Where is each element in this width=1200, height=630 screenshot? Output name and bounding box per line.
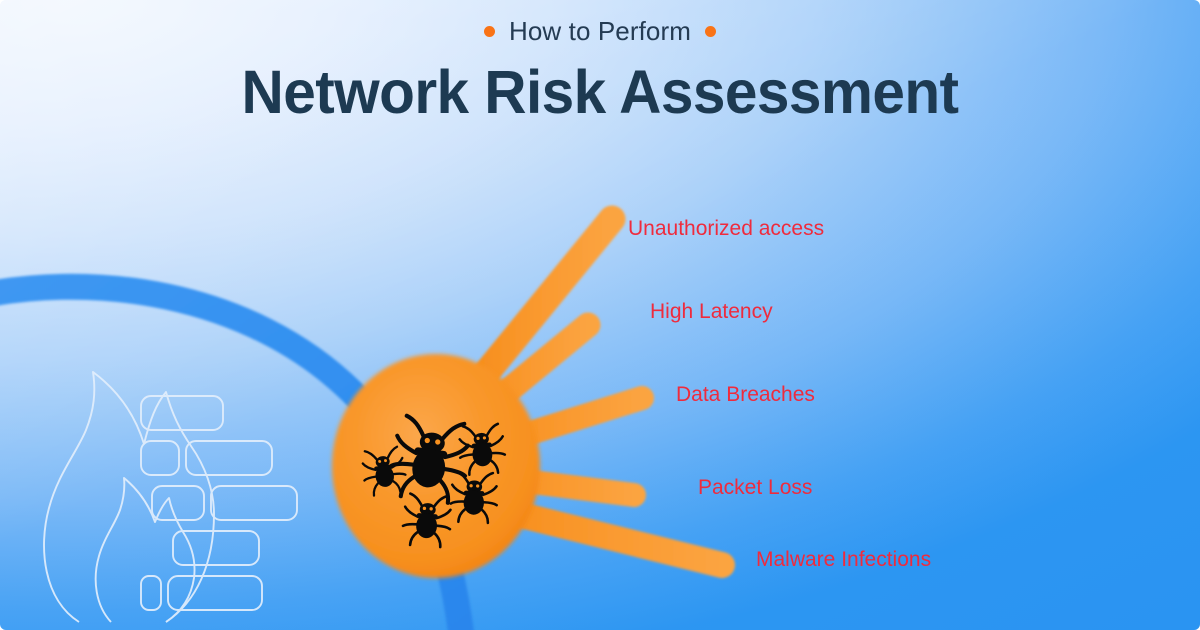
risk-label: Unauthorized access xyxy=(628,218,824,239)
page-title: Network Risk Assessment xyxy=(24,60,1176,124)
bullet-dot-icon xyxy=(705,26,716,37)
kicker-text: How to Perform xyxy=(509,18,691,44)
bullet-dot-icon xyxy=(484,26,495,37)
flame-outline-icon xyxy=(44,372,214,622)
firewall-illustration xyxy=(44,372,297,622)
risk-label: High Latency xyxy=(650,301,773,322)
header-block: How to Perform Network Risk Assessment xyxy=(0,18,1200,124)
risk-label: Data Breaches xyxy=(676,384,815,405)
kicker-row: How to Perform xyxy=(484,18,716,44)
infected-network-node xyxy=(332,354,540,578)
infographic-canvas: How to Perform Network Risk Assessment U… xyxy=(0,0,1200,630)
risk-label: Malware Infections xyxy=(756,549,931,570)
risk-label: Packet Loss xyxy=(698,477,812,498)
